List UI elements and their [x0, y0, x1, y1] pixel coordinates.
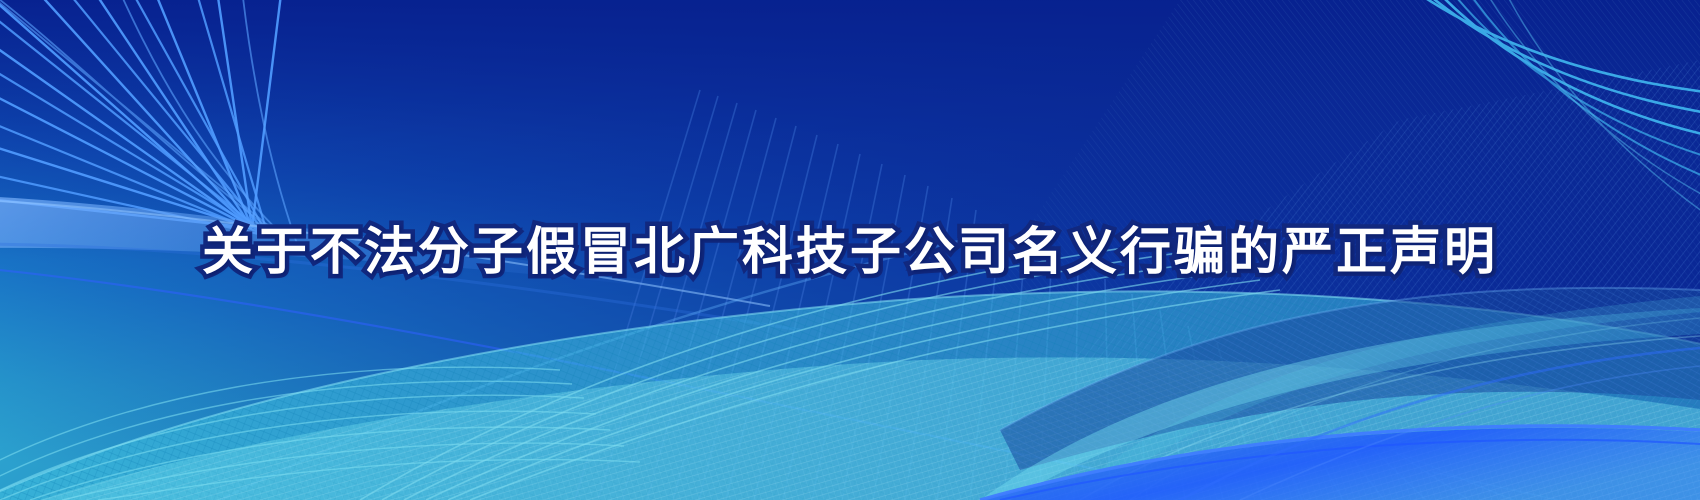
banner: 关于不法分子假冒北广科技子公司名义行骗的严正声明 [0, 0, 1700, 500]
banner-background [0, 0, 1700, 500]
